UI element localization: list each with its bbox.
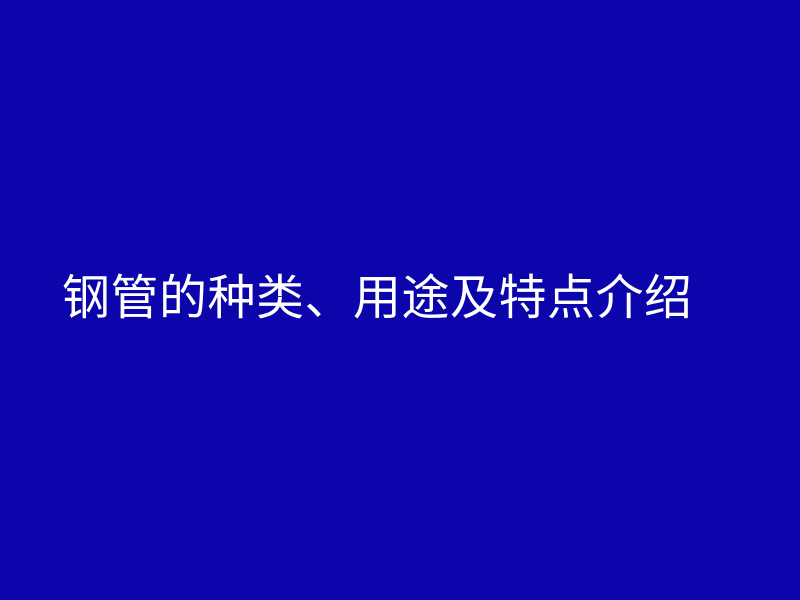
title-slide: 钢管的种类、用途及特点介绍 [0, 0, 800, 600]
title-block: 钢管的种类、用途及特点介绍 [62, 265, 762, 331]
page-title: 钢管的种类、用途及特点介绍 [62, 273, 693, 323]
